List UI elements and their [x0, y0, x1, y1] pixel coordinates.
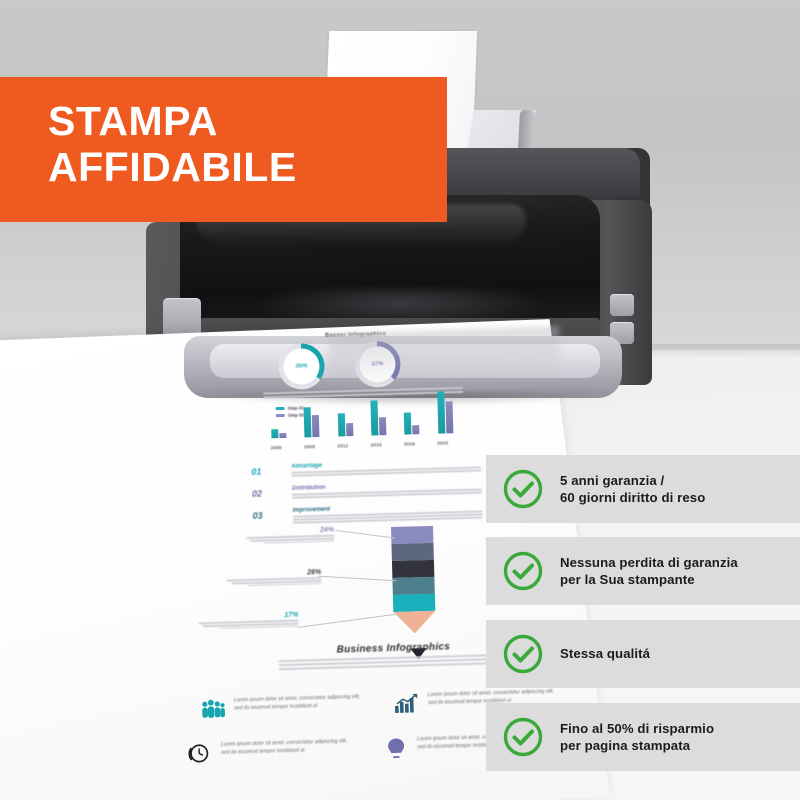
check-circle-icon [502, 633, 544, 675]
donut-chart-1-value: 35% [278, 343, 325, 390]
bar-step-02-2018 [412, 426, 419, 435]
donut-chart-1: 35% [278, 343, 325, 390]
bar-step-01-2012 [337, 413, 345, 436]
icon-cell-people: Lorem ipsum dolor sit amet, consectetur … [200, 694, 370, 699]
pencil-infographic [391, 526, 436, 634]
bar-chart-growth-icon [394, 692, 421, 715]
bar-step-01-2023 [437, 391, 445, 433]
icon-cell-text: Lorem ipsum dolor sit amet, consectetur … [234, 694, 364, 713]
x-axis-label: 2009 [304, 444, 315, 449]
feature-item-3[interactable]: Fino al 50% di risparmio per pagina stam… [486, 703, 800, 771]
leader-line [335, 530, 395, 539]
bar-step-02-2015 [379, 417, 387, 435]
bar-group [303, 389, 332, 438]
list-item-number: 02 [252, 489, 262, 499]
bar-group [403, 386, 432, 435]
pencil-stat-1: 24% [229, 527, 334, 545]
icon-cell-chart: Lorem ipsum dolor sit amet, consectetur … [394, 688, 564, 693]
printout-section-body [279, 654, 509, 672]
feed-button[interactable] [610, 294, 634, 316]
check-circle-icon [502, 550, 544, 592]
leader-line [318, 576, 396, 582]
list-item-label: Improvement [292, 507, 330, 514]
people-group-icon [200, 698, 227, 721]
x-axis-label: 2006 [271, 445, 282, 450]
lightbulb-icon [383, 737, 410, 760]
x-axis-label: 2018 [404, 441, 415, 446]
feature-item-2[interactable]: Stessa qualitá [486, 620, 800, 688]
bar-step-02-2023 [445, 402, 453, 434]
bar-step-02-2009 [312, 415, 320, 437]
icon-cell-clock: Lorem ipsum dolor sit amet, consectetur … [187, 738, 357, 743]
bar-group [370, 387, 399, 436]
bar-step-02-2006 [279, 433, 286, 438]
bar-group [337, 388, 366, 437]
feature-item-3-label: Fino al 50% di risparmio per pagina stam… [560, 720, 714, 755]
bar-chart: 200620092012201520182023 [267, 385, 469, 451]
x-axis-label: 2012 [337, 443, 348, 448]
printout-icon-grid: Lorem ipsum dolor sit amet, consectetur … [186, 689, 536, 699]
bar-group [270, 390, 299, 439]
numbered-list: 01 Advantage 02 Distribution 03 Improvem… [251, 458, 503, 531]
bar-step-01-2015 [370, 401, 378, 436]
pencil-stat-3: 17% [193, 612, 298, 630]
headline-line-2: AFFIDABILE [48, 144, 297, 190]
x-axis-label: 2023 [437, 440, 448, 445]
feature-item-0[interactable]: 5 anni garanzia / 60 giorni diritto di r… [486, 455, 800, 523]
bar-step-01-2009 [304, 407, 312, 437]
feature-item-2-label: Stessa qualitá [560, 645, 650, 662]
bar-step-02-2012 [346, 423, 353, 437]
page-title: STAMPAAFFIDABILE [48, 99, 297, 191]
paper-curl-shadow [329, 326, 561, 394]
headline-banner: STAMPAAFFIDABILE [0, 77, 447, 222]
list-item-number: 03 [252, 511, 262, 521]
feature-item-1[interactable]: Nessuna perdita di garanzia per la Sua s… [486, 537, 800, 605]
check-circle-icon [502, 468, 544, 510]
poster-canvas: Banner Infographics 35% 37% Step 01 Step… [0, 0, 800, 800]
check-circle-icon [502, 716, 544, 758]
pencil-stat-2: 26% [216, 569, 321, 587]
x-axis-label: 2015 [371, 442, 382, 447]
list-item-number: 01 [251, 467, 261, 477]
feature-item-0-label: 5 anni garanzia / 60 giorni diritto di r… [560, 472, 705, 507]
bar-group [437, 385, 466, 434]
feature-item-1-label: Nessuna perdita di garanzia per la Sua s… [560, 554, 738, 589]
list-item-label: Distribution [292, 485, 326, 492]
leader-line [298, 614, 397, 628]
list-item-label: Advantage [291, 463, 322, 470]
headline-line-1: STAMPA [48, 98, 218, 144]
bar-step-01-2006 [271, 429, 278, 438]
icon-cell-text: Lorem ipsum dolor sit amet, consectetur … [221, 738, 351, 757]
clock-icon [187, 742, 214, 765]
bar-step-01-2018 [404, 412, 412, 434]
